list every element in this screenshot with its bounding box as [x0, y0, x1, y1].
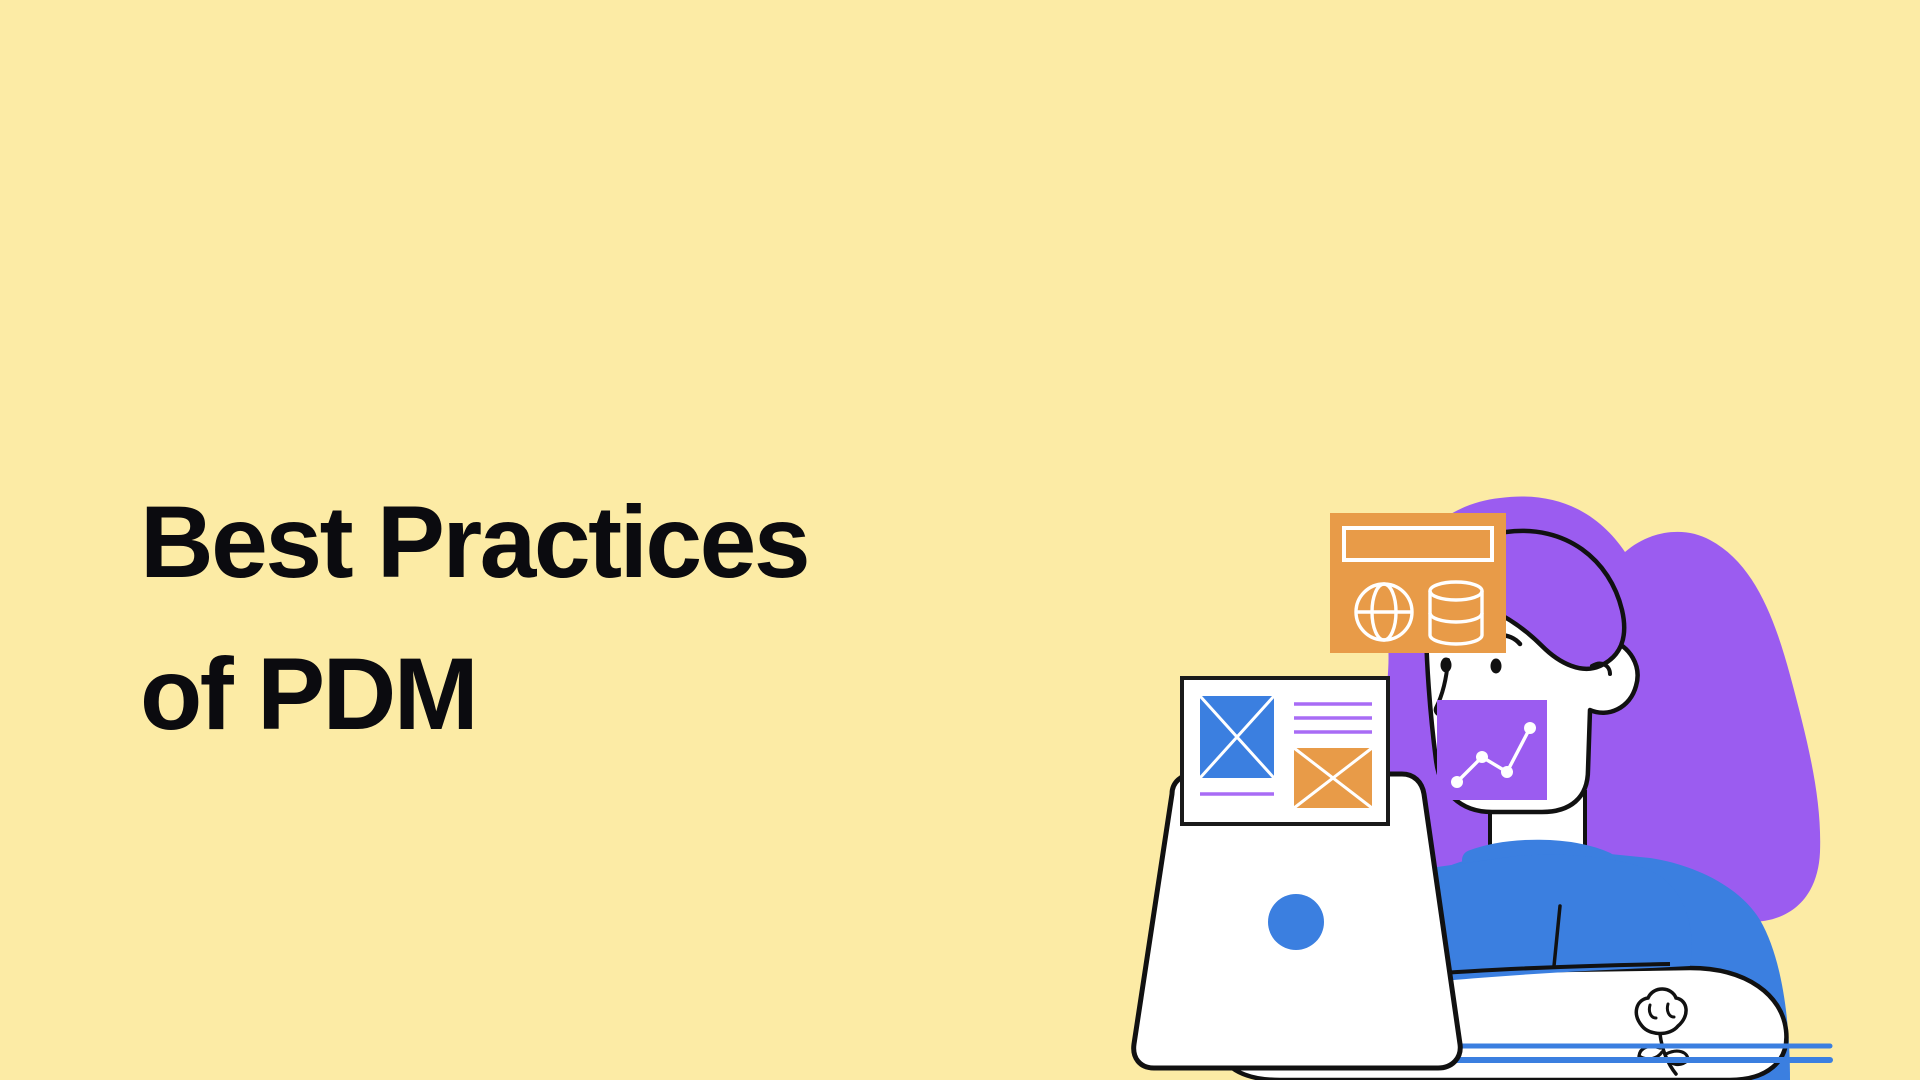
chart-point-1 — [1451, 776, 1463, 788]
wireframe-card — [1182, 678, 1388, 824]
chart-point-3 — [1501, 766, 1513, 778]
slide-canvas: Best Practices of PDM — [0, 0, 1920, 1080]
eye-right — [1491, 659, 1502, 674]
laptop-logo-icon — [1268, 894, 1324, 950]
page-title: Best Practices of PDM — [140, 466, 1000, 770]
title-line-1: Best Practices — [140, 466, 1000, 618]
chart-point-2 — [1476, 751, 1488, 763]
line-chart-card — [1437, 700, 1547, 800]
database-card-bg — [1330, 513, 1506, 653]
hero-illustration — [1130, 460, 1920, 1080]
title-line-2: of PDM — [140, 618, 1000, 770]
database-card — [1330, 513, 1506, 653]
chart-point-4 — [1524, 722, 1536, 734]
